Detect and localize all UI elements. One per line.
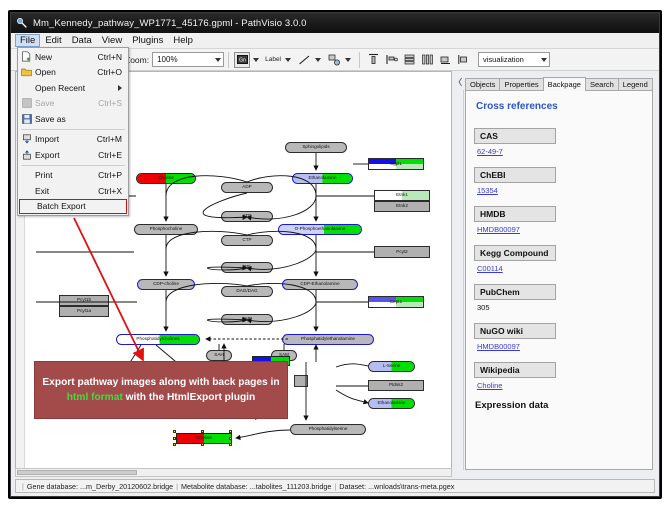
backpage-content: Cross references CAS 62-49-7 ChEBI 15354…: [465, 90, 653, 470]
file-menu-item-batch-export[interactable]: Batch Export: [19, 199, 127, 215]
file-menu-label-new: New: [35, 52, 98, 62]
xref-link-hmdb[interactable]: HMDB00097: [477, 225, 520, 234]
distribute-icon[interactable]: [419, 52, 435, 68]
xref-value-pubchem: 305: [477, 303, 644, 312]
file-menu-accel-open: Ctrl+O: [97, 67, 128, 77]
file-menu-item-save-as[interactable]: Save as: [18, 111, 128, 127]
zoom-value: 100%: [157, 55, 177, 64]
node-cdp-choline[interactable]: CDP-choline: [137, 279, 195, 290]
tab-backpage[interactable]: Backpage: [543, 77, 586, 92]
zoom-combo[interactable]: 100%: [152, 52, 224, 67]
file-menu-accel-export: Ctrl+E: [98, 150, 128, 160]
node-label: Choline: [196, 436, 212, 441]
tab-legend[interactable]: Legend: [618, 78, 653, 92]
xref-link-cas[interactable]: 62-49-7: [477, 147, 503, 156]
selection-handle[interactable]: [229, 443, 232, 446]
node-pcyt1b[interactable]: Pcyt1b: [59, 295, 109, 306]
node-label: Ethanolamine: [377, 401, 405, 406]
menu-file[interactable]: File: [15, 34, 40, 47]
svg-text:Gn: Gn: [239, 57, 246, 63]
callout-text-after: with the HtmlExport plugin: [123, 392, 255, 403]
node-cept1[interactable]: Cept1: [368, 296, 424, 308]
blank-icon: [18, 81, 35, 95]
node-label: ATP: [243, 214, 252, 219]
folder-open-icon: [18, 65, 35, 79]
window-frame: Mm_Kennedy_pathway_WP1771_45176.gpml - P…: [8, 10, 662, 499]
file-menu-item-new[interactable]: New Ctrl+N: [18, 49, 128, 65]
window-title: Mm_Kennedy_pathway_WP1771_45176.gpml - P…: [33, 18, 307, 29]
order-front-icon[interactable]: [455, 52, 471, 68]
file-menu-accel-print: Ctrl+P: [98, 170, 128, 180]
node-phosphatidylserine[interactable]: Phosphatidylserine: [290, 424, 366, 435]
callout-text-highlight: html format: [67, 392, 123, 403]
file-menu-label-export: Export: [35, 150, 98, 160]
file-menu-divider-2: [21, 165, 125, 166]
node-label: Sphingolipids: [302, 145, 329, 150]
node-label: Phosphatidylethanolamine: [301, 337, 355, 342]
selection-handle[interactable]: [229, 437, 232, 440]
node-label: Pcyt1b: [77, 298, 91, 303]
node-ethanolamine-top[interactable]: Ethanolamine: [292, 173, 353, 184]
xref-cas: CAS 62-49-7: [474, 126, 644, 156]
menu-data[interactable]: Data: [67, 34, 97, 47]
xref-nugo: NuGO wiki HMDB00097: [474, 321, 644, 351]
selection-handle[interactable]: [173, 430, 176, 433]
file-menu-item-import[interactable]: Import Ctrl+M: [18, 132, 128, 148]
file-menu-label-save-as: Save as: [35, 114, 122, 124]
node-label: Phosphatidylcholines: [136, 337, 179, 342]
align-top-icon[interactable]: [365, 52, 381, 68]
chevron-down-icon-2: [541, 58, 547, 62]
node-pcyt1a[interactable]: Pcyt1a: [59, 306, 109, 317]
file-menu-item-open[interactable]: Open Ctrl+O: [18, 65, 128, 81]
order-back-icon[interactable]: [437, 52, 453, 68]
file-menu-label-save: Save: [35, 98, 98, 108]
line-dropdown-icon[interactable]: [313, 52, 322, 68]
node-phosphocholine[interactable]: Phosphocholine: [134, 224, 198, 235]
xref-head-hmdb: HMDB: [474, 206, 556, 222]
xref-value-kegg: C00114: [477, 264, 644, 273]
selection-handle[interactable]: [173, 443, 176, 446]
label-dropdown-icon[interactable]: [283, 52, 292, 68]
node-anchor-box[interactable]: [294, 375, 308, 387]
stack-vertical-icon[interactable]: [401, 52, 417, 68]
application-window: Mm_Kennedy_pathway_WP1771_45176.gpml - P…: [10, 12, 660, 497]
node-phosphatidylcholines[interactable]: Phosphatidylcholines: [116, 334, 200, 345]
file-menu-dropdown: New Ctrl+N Open Ctrl+O Open Recent: [17, 47, 129, 216]
cross-references-title: Cross references: [476, 101, 644, 112]
node-etnk1[interactable]: Etnk1: [374, 190, 430, 201]
node-label: CDP-Ethanolamine: [300, 282, 339, 287]
node-sphingolipids[interactable]: Sphingolipids: [285, 142, 347, 153]
annotation-callout: Export pathway images along with back pa…: [34, 361, 288, 419]
visualization-value: visualization: [483, 55, 524, 64]
xref-head-kegg: Kegg Compound: [474, 245, 556, 261]
file-menu-divider-1: [21, 129, 125, 130]
xref-link-nugo[interactable]: HMDB00097: [477, 342, 520, 351]
tab-properties[interactable]: Properties: [499, 78, 543, 92]
node-atp[interactable]: ATP: [221, 211, 273, 222]
node-label: Pcyt2: [396, 250, 408, 255]
status-separator-2: |: [331, 482, 339, 491]
blank-icon-2: [18, 168, 35, 182]
file-menu-accel-import: Ctrl+M: [97, 134, 128, 144]
file-menu-label-batch-export: Batch Export: [37, 201, 120, 211]
file-menu-label-print: Print: [35, 170, 98, 180]
node-choline-top[interactable]: Choline: [136, 173, 196, 184]
label-button[interactable]: Label: [263, 55, 283, 64]
xref-wikipedia: Wikipedia Choline: [474, 360, 644, 390]
node-label: Phosphocholine: [150, 227, 183, 232]
node-phosphatidylethanolamine[interactable]: Phosphatidylethanolamine: [282, 334, 374, 345]
align-left-icon[interactable]: [383, 52, 399, 68]
status-bar: | Gene database: ...m_Derby_20120602.bri…: [15, 479, 655, 493]
xref-link-wikipedia[interactable]: Choline: [477, 381, 502, 390]
node-label: Etnk2: [396, 204, 408, 209]
node-label: Pcyt1a: [77, 309, 91, 314]
tab-search[interactable]: Search: [585, 78, 619, 92]
expression-data-title: Expression data: [475, 400, 644, 411]
menu-view[interactable]: View: [97, 34, 127, 47]
file-menu-item-open-recent[interactable]: Open Recent: [18, 80, 128, 96]
status-dataset-value: ...wnloads\trans-meta.pgex: [368, 482, 454, 491]
node-label: PPi: [243, 265, 250, 270]
canvas-horizontal-scrollbar[interactable]: [15, 468, 452, 477]
xref-head-nugo: NuGO wiki: [474, 323, 556, 339]
shape-icon[interactable]: [326, 52, 342, 68]
file-menu-item-save[interactable]: Save Ctrl+S: [18, 96, 128, 112]
status-separator-1: |: [173, 482, 181, 491]
file-menu-accel-exit: Ctrl+X: [98, 186, 128, 196]
pathvisio-icon: [16, 17, 28, 29]
blank-icon-3: [18, 184, 35, 198]
tab-objects[interactable]: Objects: [465, 78, 500, 92]
xref-head-pubchem: PubChem: [474, 284, 556, 300]
node-ptdss2[interactable]: Ptdss2: [368, 380, 424, 391]
xref-link-chebi[interactable]: 15354: [477, 186, 498, 195]
node-label: Cept1: [390, 300, 402, 305]
import-icon: [18, 132, 35, 146]
status-gene-database-label: Gene database:: [27, 482, 78, 491]
node-sah[interactable]: SAH: [206, 350, 232, 361]
node-pcyt2[interactable]: Pcyt2: [374, 246, 430, 258]
node-label: L-Serine: [383, 364, 400, 369]
selection-handle[interactable]: [201, 430, 204, 433]
visualization-combo[interactable]: visualization: [478, 52, 550, 67]
menu-plugins[interactable]: Plugins: [127, 34, 168, 47]
selection-handle[interactable]: [173, 437, 176, 440]
selection-handle[interactable]: [201, 443, 204, 446]
node-etnk2[interactable]: Etnk2: [374, 201, 430, 212]
node-ethanolamine-bottom[interactable]: Ethanolamine: [368, 398, 415, 409]
title-bar: Mm_Kennedy_pathway_WP1771_45176.gpml - P…: [11, 13, 659, 33]
xref-value-nugo: HMDB00097: [477, 342, 644, 351]
node-label: Sgpl1: [390, 162, 402, 167]
submenu-arrow-icon: [118, 85, 122, 91]
node-label: Ethanolamine: [308, 176, 336, 181]
node-label: CTP: [242, 238, 251, 243]
file-menu-label-import: Import: [35, 134, 97, 144]
node-label: SAM: [279, 353, 289, 358]
node-label: Phosphatidylserine: [309, 427, 348, 432]
new-document-icon: [18, 50, 35, 64]
xref-link-kegg[interactable]: C00114: [477, 264, 503, 273]
menu-help[interactable]: Help: [168, 34, 198, 47]
save-icon: [18, 96, 35, 110]
file-menu-label-exit: Exit: [35, 186, 98, 196]
xref-head-cas: CAS: [474, 128, 556, 144]
toolbar-separator-2: [359, 52, 360, 68]
node-label: SAH: [214, 353, 223, 358]
file-menu-label-open: Open: [35, 67, 97, 77]
xref-head-chebi: ChEBI: [474, 167, 556, 183]
datanode-icon[interactable]: Gn: [234, 52, 250, 68]
node-sgpl1[interactable]: Sgpl1: [368, 158, 424, 170]
callout-text: Export pathway images along with back pa…: [41, 375, 281, 405]
node-label: ADP: [242, 185, 251, 190]
node-dag-dag[interactable]: DAG/DAG: [221, 286, 273, 297]
node-ctp[interactable]: CTP: [221, 235, 273, 246]
node-label: O-Phosphoethanolamine: [295, 227, 346, 232]
shape-dropdown-icon[interactable]: [343, 52, 352, 68]
xref-chebi: ChEBI 15354: [474, 165, 644, 195]
callout-text-before: Export pathway images along with back pa…: [42, 377, 279, 388]
panel-split-handle[interactable]: [457, 75, 463, 89]
status-separator-0: |: [19, 482, 27, 491]
xref-value-chebi: 15354: [477, 186, 644, 195]
file-menu-label-open-recent: Open Recent: [35, 83, 118, 93]
node-l-serine[interactable]: L-Serine: [368, 361, 415, 372]
xref-hmdb: HMDB HMDB00097: [474, 204, 644, 234]
export-icon: [18, 148, 35, 162]
screenshot-root: Mm_Kennedy_pathway_WP1771_45176.gpml - P…: [0, 0, 670, 509]
node-cdp-ethanolamine[interactable]: CDP-Ethanolamine: [282, 279, 358, 290]
scrollbar-thumb[interactable]: [17, 470, 137, 475]
xref-value-hmdb: HMDB00097: [477, 225, 644, 234]
xref-value-cas: 62-49-7: [477, 147, 644, 156]
menu-edit[interactable]: Edit: [40, 34, 66, 47]
node-label: CDP-choline: [153, 282, 179, 287]
toolbar-separator: [228, 52, 229, 68]
chevron-down-icon: [215, 58, 221, 62]
panel-tabstrip: Objects Properties Backpage Search Legen…: [465, 77, 653, 91]
xref-pubchem: PubChem 305: [474, 282, 644, 312]
save-as-icon: [18, 112, 35, 126]
side-panel: Objects Properties Backpage Search Legen…: [457, 71, 655, 475]
file-menu-item-exit[interactable]: Exit Ctrl+X: [18, 183, 128, 199]
node-cmp[interactable]: CMP: [221, 314, 273, 325]
node-o-phosphoethanolamine[interactable]: O-Phosphoethanolamine: [278, 224, 362, 235]
node-label: Ptdss2: [389, 383, 403, 388]
xref-kegg: Kegg Compound C00114: [474, 243, 644, 273]
datanode-dropdown-icon[interactable]: [251, 52, 260, 68]
status-metabolite-database-value: ...tabolites_111203.bridge: [250, 482, 332, 491]
status-metabolite-database-label: Metabolite database:: [181, 482, 248, 491]
file-menu-accel-save: Ctrl+S: [98, 98, 128, 108]
node-ppi[interactable]: PPi: [221, 262, 273, 273]
line-icon[interactable]: [296, 52, 312, 68]
xref-head-wikipedia: Wikipedia: [474, 362, 556, 378]
status-gene-database-value: ...m_Derby_20120602.bridge: [80, 482, 173, 491]
panel-left-scrollbar[interactable]: [457, 90, 464, 470]
node-label: Etnk1: [396, 193, 408, 198]
node-label: Choline: [158, 176, 174, 181]
blank-icon-4: [20, 199, 37, 213]
file-menu-item-export[interactable]: Export Ctrl+E: [18, 147, 128, 163]
file-menu-accel-new: Ctrl+N: [98, 52, 128, 62]
status-dataset-label: Dataset:: [339, 482, 366, 491]
node-adp[interactable]: ADP: [221, 182, 273, 193]
selection-handle[interactable]: [229, 430, 232, 433]
xref-value-wikipedia: Choline: [477, 381, 644, 390]
file-menu-item-print[interactable]: Print Ctrl+P: [18, 168, 128, 184]
node-label: DAG/DAG: [236, 289, 257, 294]
node-label: CMP: [242, 317, 252, 322]
